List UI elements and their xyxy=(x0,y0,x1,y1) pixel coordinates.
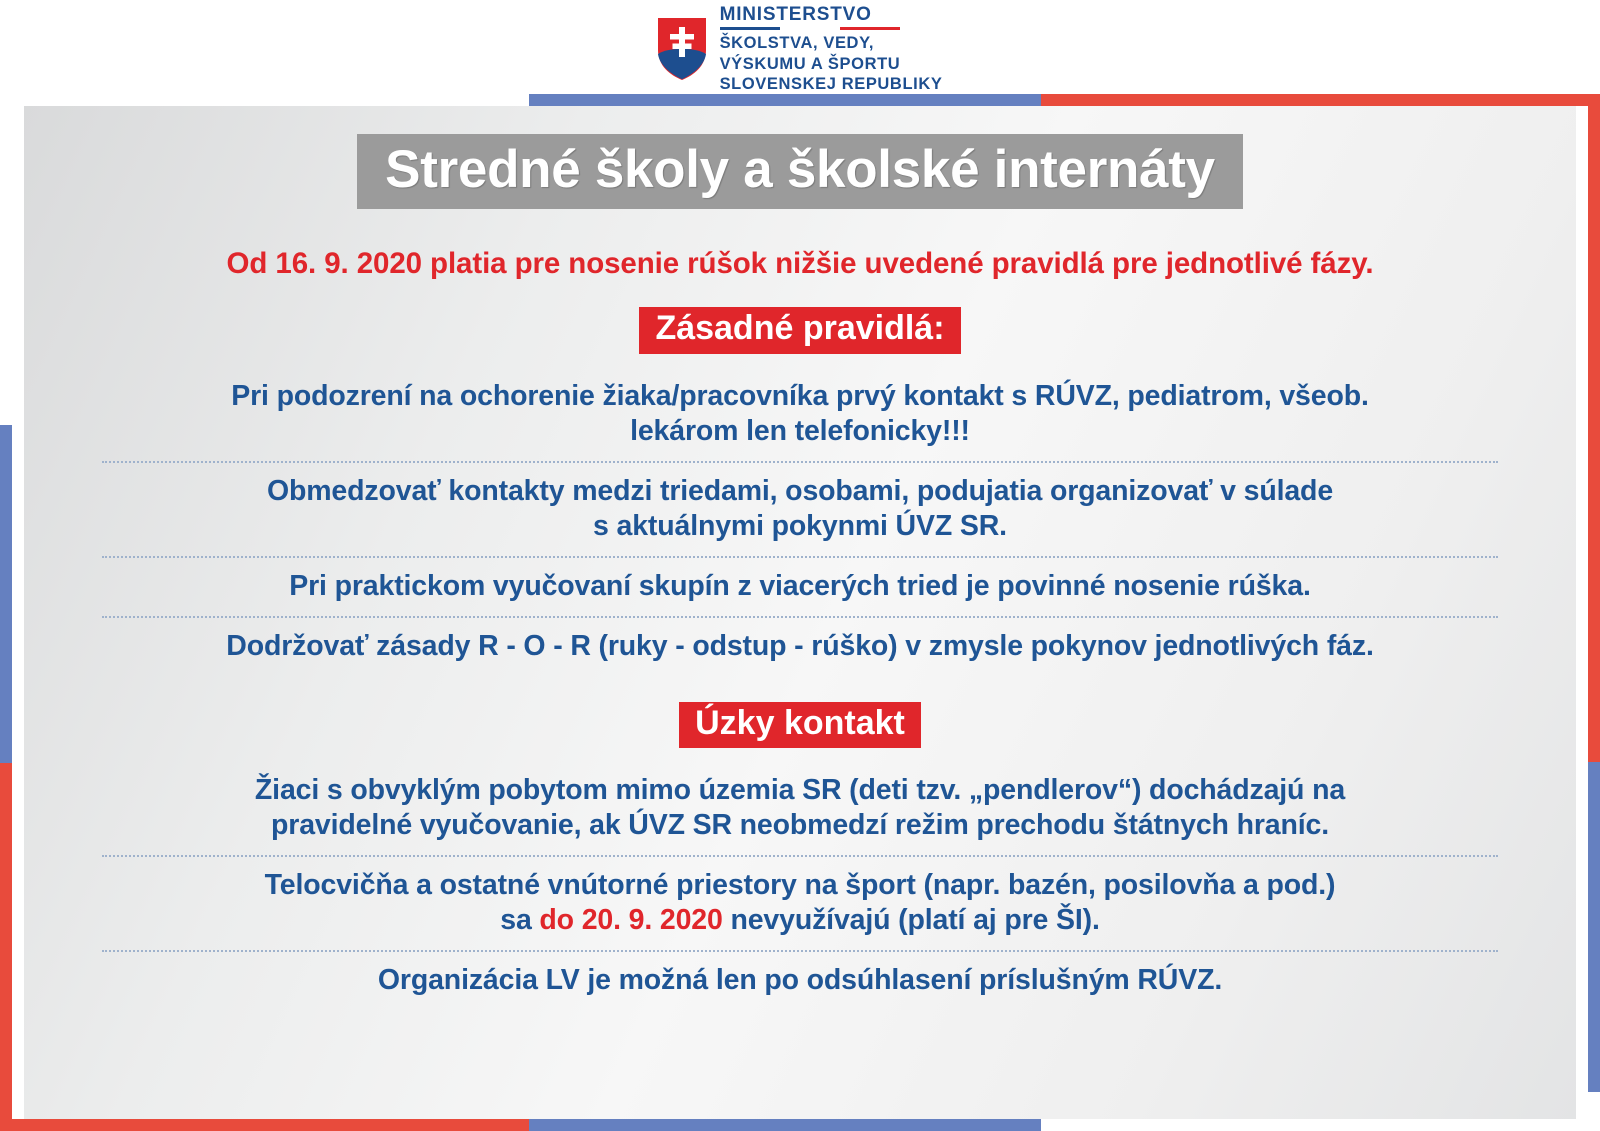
logo-line-slovenskej: SLOVENSKEJ REPUBLIKY xyxy=(720,74,943,94)
rule-item: Dodržovať zásady R - O - R (ruky - odstu… xyxy=(102,616,1498,676)
rule-line: Organizácia LV je možná len po odsúhlase… xyxy=(102,963,1498,998)
slovak-coat-of-arms-icon xyxy=(658,18,706,80)
rule-line: Dodržovať zásady R - O - R (ruky - odstu… xyxy=(102,629,1498,664)
frame-bar-right-red xyxy=(1588,94,1600,762)
rule-line: lekárom len telefonicky!!! xyxy=(102,414,1498,449)
page-title: Stredné školy a školské internáty xyxy=(357,134,1243,209)
rule-item: Organizácia LV je možná len po odsúhlase… xyxy=(102,950,1498,1010)
rules-list-2: Žiaci s obvyklým pobytom mimo územia SR … xyxy=(24,762,1576,1010)
rules-list-1: Pri podozrení na ochorenie žiaka/pracovn… xyxy=(24,368,1576,676)
rule-item: Pri podozrení na ochorenie žiaka/pracovn… xyxy=(102,368,1498,461)
rule-line: pravidelné vyučovanie, ak ÚVZ SR neobmed… xyxy=(102,808,1498,843)
section-heading-row-1: Zásadné pravidlá: xyxy=(24,307,1576,353)
intro-line: Od 16. 9. 2020 platia pre nosenie rúšok … xyxy=(24,247,1576,281)
frame-bar-top-red xyxy=(1041,94,1600,106)
frame-bar-left-blue xyxy=(0,425,12,763)
poster: MINISTERSTVO ŠKOLSTVA, VEDY, VÝSKUMU A Š… xyxy=(0,0,1600,1131)
logo-tricolor-rule xyxy=(720,27,900,30)
frame-bar-top-blue xyxy=(529,94,1041,106)
section-heading-row-2: Úzky kontakt xyxy=(24,702,1576,748)
rule-item: Telocvičňa a ostatné vnútorné priestory … xyxy=(102,855,1498,950)
intro-date: 16. 9. 2020 xyxy=(275,247,422,280)
section-heading-uzky-kontakt: Úzky kontakt xyxy=(679,702,921,748)
frame-bar-bottom-blue xyxy=(529,1119,1041,1131)
frame-bar-bottom-red xyxy=(0,1119,529,1131)
frame-bar-right-blue xyxy=(1588,762,1600,1092)
intro-prefix: Od xyxy=(227,247,276,280)
ministry-logo-text: MINISTERSTVO ŠKOLSTVA, VEDY, VÝSKUMU A Š… xyxy=(720,4,943,94)
rule-line: Telocvičňa a ostatné vnútorné priestory … xyxy=(102,868,1498,903)
rule-line: s aktuálnymi pokynmi ÚVZ SR. xyxy=(102,509,1498,544)
highlight-suffix: nevyužívajú (platí aj pre ŠI). xyxy=(723,904,1100,936)
rule-line: Žiaci s obvyklým pobytom mimo územia SR … xyxy=(102,773,1498,808)
poster-content: Stredné školy a školské internáty Od 16.… xyxy=(24,106,1576,1119)
intro-suffix: platia pre nosenie rúšok nižšie uvedené … xyxy=(422,247,1374,280)
frame-bar-left-red xyxy=(0,763,12,1131)
logo-line-vyskumu: VÝSKUMU A ŠPORTU xyxy=(720,54,943,74)
section-heading-zasadne-pravidla: Zásadné pravidlá: xyxy=(639,307,960,353)
logo-line-skolstva: ŠKOLSTVA, VEDY, xyxy=(720,33,943,53)
highlight-date: do 20. 9. 2020 xyxy=(539,904,722,936)
ministry-logo: MINISTERSTVO ŠKOLSTVA, VEDY, VÝSKUMU A Š… xyxy=(0,0,1600,98)
logo-line-ministerstvo: MINISTERSTVO xyxy=(720,4,943,25)
rule-line-highlight: sa do 20. 9. 2020 nevyužívajú (platí aj … xyxy=(102,903,1498,938)
title-row: Stredné školy a školské internáty xyxy=(24,134,1576,209)
rule-line: Pri podozrení na ochorenie žiaka/pracovn… xyxy=(102,379,1498,414)
rule-item: Obmedzovať kontakty medzi triedami, osob… xyxy=(102,461,1498,556)
rule-item: Žiaci s obvyklým pobytom mimo územia SR … xyxy=(102,762,1498,855)
rule-line: Obmedzovať kontakty medzi triedami, osob… xyxy=(102,474,1498,509)
highlight-prefix: sa xyxy=(500,904,539,936)
rule-line: Pri praktickom vyučovaní skupín z viacer… xyxy=(102,569,1498,604)
rule-item: Pri praktickom vyučovaní skupín z viacer… xyxy=(102,556,1498,616)
